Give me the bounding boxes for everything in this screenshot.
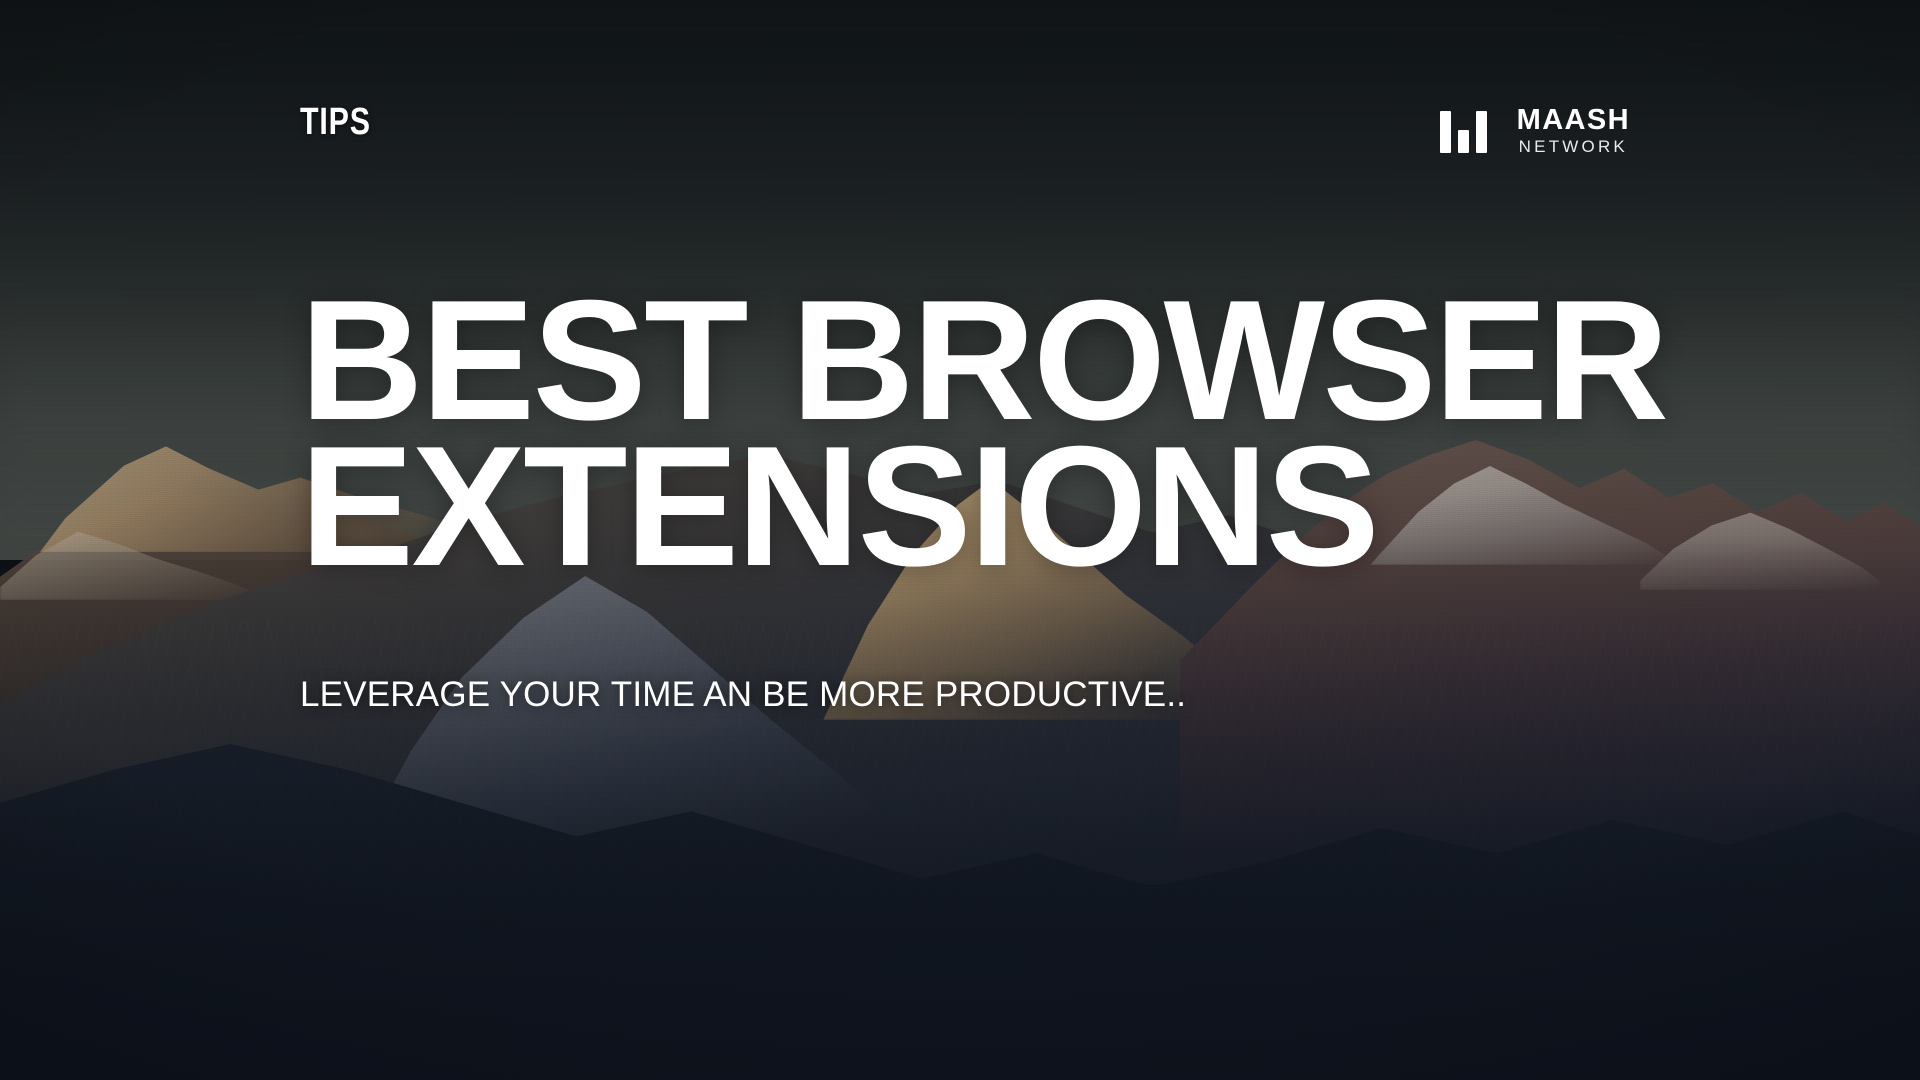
brand-wordmark: MAASH NETWORK [1517,105,1630,159]
poster-content: TIPS MAASH NETWORK BEST BROWSER EXTENSIO… [0,0,1920,1080]
bar-chart-bar-2 [1458,130,1469,153]
footer: MAASHNETWORK.NET @maashnetwork [0,930,1920,1080]
page-title: BEST BROWSER EXTENSIONS [300,286,1900,583]
poster-canvas: TIPS MAASH NETWORK BEST BROWSER EXTENSIO… [0,0,1920,1080]
bar-chart-bar-1 [1440,111,1451,153]
brand-logo[interactable]: MAASH NETWORK [1440,105,1630,159]
subtitle-text: LEVERAGE YOUR TIME AN BE MORE PRODUCTIVE… [300,674,1186,716]
bar-chart-bar-3 [1476,111,1487,153]
brand-name: MAASH [1517,105,1630,135]
eyebrow-label: TIPS [300,103,371,141]
bar-chart-icon [1440,111,1487,153]
brand-subtitle: NETWORK [1519,136,1628,159]
